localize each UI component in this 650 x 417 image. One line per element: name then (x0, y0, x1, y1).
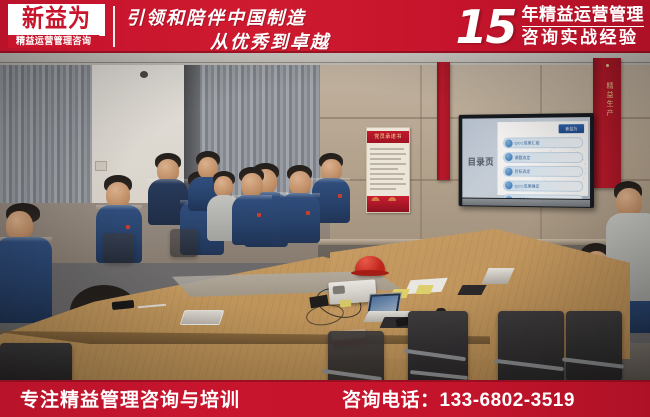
header-slogan: 引领和陪伴中国制造 从优秀到卓越 (124, 3, 404, 51)
chair (408, 311, 468, 380)
years-line-1: 年精益运营管理 (522, 5, 645, 25)
bullet-icon (505, 167, 513, 175)
vertical-banner-left (437, 62, 450, 180)
footer-left-text: 专注精益管理咨询与培训 (20, 385, 240, 412)
years-line-2: 咨询实战经验 (522, 28, 645, 48)
person (280, 165, 320, 243)
toc-item-label: 目标选定 (515, 167, 531, 176)
ceiling-seam (0, 62, 650, 63)
toc-item-label: QCC成果确定 (515, 181, 540, 190)
chair (0, 343, 72, 380)
logo-brand-text: 新益为 (22, 8, 91, 33)
slide-logo-text: 新益为 (559, 124, 584, 133)
toc-item: 目标选定 (503, 166, 583, 177)
vertical-banner-text: 精益生产 (602, 82, 614, 118)
presentation-slide: 目录页 新益为 QCC成果汇报 课题选定 (498, 121, 589, 196)
toc-item-label: 课题选定 (515, 153, 531, 162)
footer-phone: 咨询电话：133-6802-3519 (342, 385, 575, 412)
years-number: 15 (455, 4, 521, 50)
wall-vertical-seam (420, 65, 422, 239)
meeting-photo: 精益生产 党员承诺书 目录页 新益为 (0, 53, 650, 380)
poster-footer (367, 196, 409, 212)
screen-surface: 目录页 新益为 QCC成果汇报 课题选定 (462, 117, 590, 199)
header-banner: 新益为 精益运营管理咨询 引领和陪伴中国制造 从优秀到卓越 15 年精益运营管理… (0, 0, 650, 53)
projection-screen: 目录页 新益为 QCC成果汇报 课题选定 (459, 113, 594, 208)
chair (170, 229, 198, 257)
slide-logo: 新益为 (559, 124, 584, 133)
smoke-detector-icon (140, 71, 148, 78)
toc-item-label: QCC成果汇报 (515, 138, 540, 147)
slogan-line-2: 从优秀到卓越 (210, 28, 330, 53)
bullet-icon (505, 153, 513, 161)
footer-banner: 专注精益管理咨询与培训 咨询电话：133-6802-3519 (0, 380, 650, 417)
promotional-image: 新益为 精益运营管理咨询 引领和陪伴中国制造 从优秀到卓越 15 年精益运营管理… (0, 0, 650, 417)
slogan-line-1: 引领和陪伴中国制造 (126, 4, 306, 30)
bullet-icon (505, 139, 513, 147)
years-text: 年精益运营管理 咨询实战经验 (522, 5, 645, 49)
vertical-banner-right: 精益生产 (593, 58, 621, 188)
bullet-icon (505, 181, 513, 189)
wall-poster: 党员承诺书 (366, 127, 410, 213)
sticky-note (340, 299, 352, 307)
chair (566, 311, 622, 380)
person (232, 167, 272, 245)
plastic-tray (180, 310, 225, 325)
curtain-left (0, 65, 92, 215)
toc-item: 课题选定 (503, 152, 583, 163)
poster-title: 党员承诺书 (367, 131, 409, 143)
toc-item: QCC成果确定 (503, 180, 583, 191)
safety-helmet (355, 256, 385, 275)
slide-toc-list: QCC成果汇报 课题选定 目标选定 QCC成果确定 (503, 137, 583, 199)
wall-socket (95, 161, 107, 171)
logo-brand-box: 新益为 (8, 4, 105, 36)
poster-header: 党员承诺书 (367, 131, 409, 143)
person (0, 203, 56, 323)
toc-item: QCC成果汇报 (503, 137, 583, 148)
header-divider (113, 6, 115, 47)
chair (104, 233, 134, 263)
slide-title: 目录页 (464, 155, 497, 168)
screen-base (462, 198, 590, 206)
experience-block: 15 年精益运营管理 咨询实战经验 (455, 1, 644, 52)
logo-tagline: 精益运营管理咨询 (8, 35, 99, 48)
company-logo: 新益为 精益运营管理咨询 (8, 4, 103, 49)
